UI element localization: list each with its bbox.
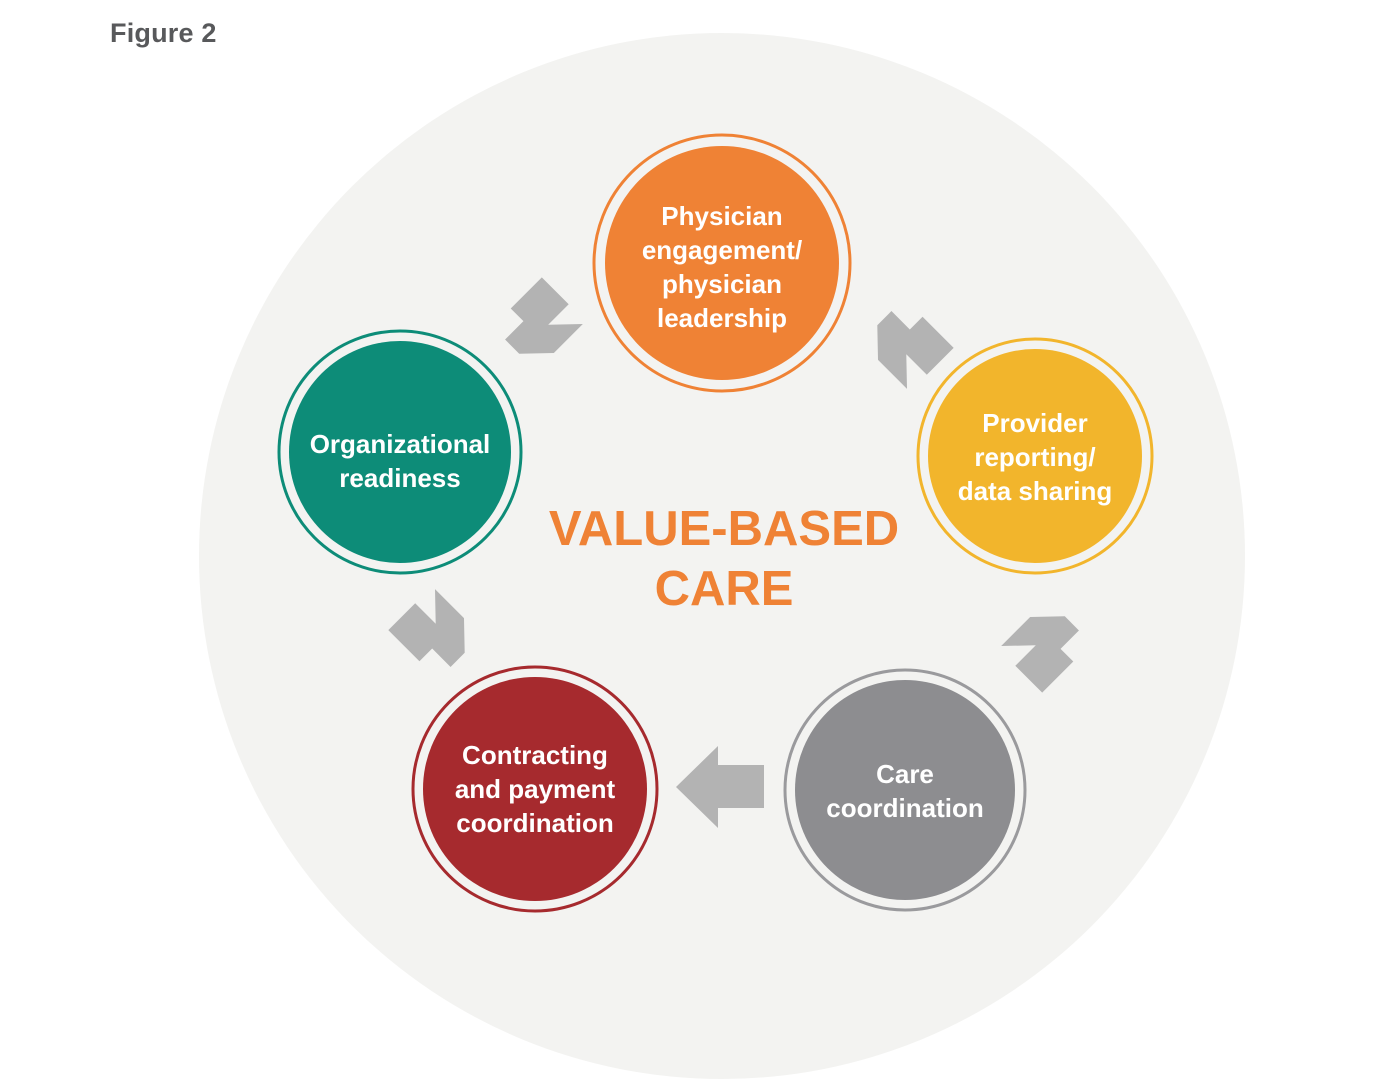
- node-label-care-coordination-line1: Care: [876, 759, 934, 789]
- node-physician-engagement[interactable]: Physician engagement/ physician leadersh…: [594, 135, 850, 391]
- node-label-provider-reporting-line3: data sharing: [958, 476, 1113, 506]
- center-title-line1: VALUE-BASED: [549, 502, 899, 556]
- node-label-physician-engagement-line2: engagement/: [642, 235, 802, 265]
- node-fill-care-coordination: [795, 680, 1015, 900]
- value-based-care-cycle-diagram: Physician engagement/ physician leadersh…: [0, 0, 1394, 1086]
- node-label-organizational-readiness-line2: readiness: [339, 463, 460, 493]
- node-organizational-readiness[interactable]: Organizational readiness: [279, 331, 521, 573]
- node-label-organizational-readiness-line1: Organizational: [310, 429, 491, 459]
- node-label-contracting-payment-line3: coordination: [456, 808, 613, 838]
- node-label-physician-engagement-line4: leadership: [657, 303, 787, 333]
- figure-container: Figure 2 Physician engagemen: [0, 0, 1394, 1086]
- node-label-provider-reporting-line2: reporting/: [974, 442, 1095, 472]
- center-title-line2: CARE: [655, 562, 794, 616]
- node-label-physician-engagement-line1: Physician: [661, 201, 782, 231]
- node-label-provider-reporting-line1: Provider: [982, 408, 1088, 438]
- node-label-contracting-payment-line1: Contracting: [462, 740, 608, 770]
- node-label-contracting-payment-line2: and payment: [455, 774, 616, 804]
- node-contracting-payment[interactable]: Contracting and payment coordination: [413, 667, 657, 911]
- node-label-care-coordination-line2: coordination: [826, 793, 983, 823]
- node-label-physician-engagement-line3: physician: [662, 269, 782, 299]
- node-provider-reporting[interactable]: Provider reporting/ data sharing: [918, 339, 1152, 573]
- node-care-coordination[interactable]: Care coordination: [785, 670, 1025, 910]
